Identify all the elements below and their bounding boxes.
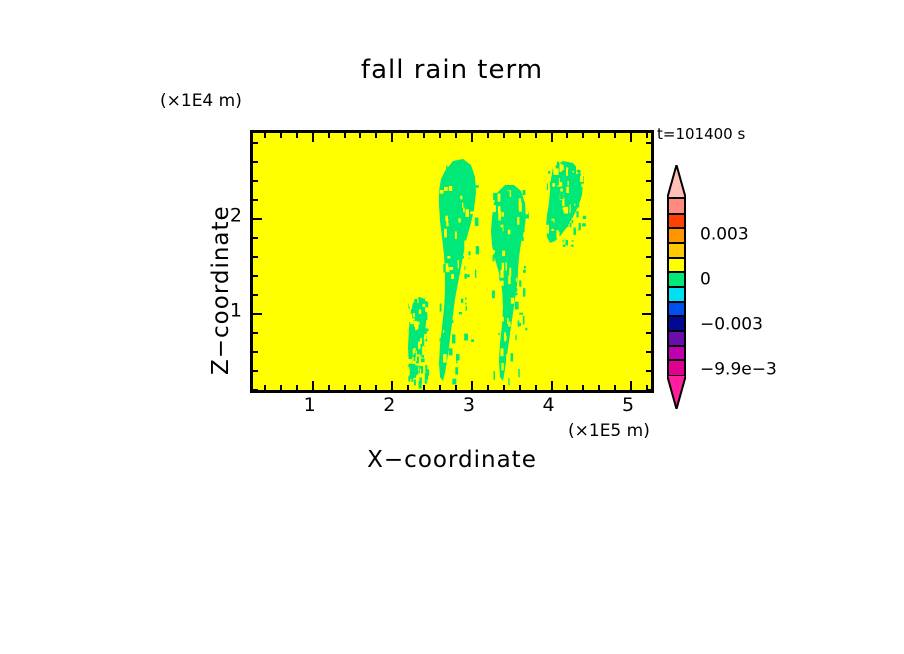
contour-speckle	[493, 323, 495, 329]
contour-speckle	[579, 234, 581, 242]
contour-speckle	[491, 250, 495, 253]
contour-speckle	[506, 354, 510, 362]
contour-speckle	[525, 328, 527, 331]
contour-speckle	[501, 281, 504, 286]
contour-speckle	[467, 274, 470, 277]
colorbar-segment-divider	[669, 227, 684, 229]
axis-tick	[646, 351, 651, 353]
contour-speckle	[509, 268, 511, 277]
contour-speckle	[561, 165, 564, 170]
contour-speckle	[474, 323, 477, 331]
contour-speckle	[501, 349, 504, 357]
contour-speckle	[525, 244, 528, 250]
contour-speckle	[447, 285, 450, 287]
contour-speckle	[440, 304, 442, 312]
y-tick-label: 2	[210, 206, 242, 225]
colorbar-overflow-arrow-bottom-icon	[667, 375, 686, 409]
axis-tick	[423, 385, 425, 390]
contour-speckle	[511, 298, 515, 304]
contour-speckle	[547, 183, 548, 190]
colorbar-segment	[669, 287, 684, 302]
contour-speckle	[409, 300, 412, 307]
axis-tick	[614, 133, 616, 138]
contour-speckle	[493, 255, 495, 262]
axis-tick	[253, 351, 258, 353]
contour-speckle	[514, 331, 516, 335]
contour-speckle	[566, 167, 568, 175]
contour-speckle	[570, 191, 571, 196]
contour-speckle	[463, 208, 465, 213]
contour-speckle	[519, 203, 522, 212]
contour-speckle	[522, 237, 524, 241]
contour-speckle	[516, 335, 518, 339]
axis-tick	[582, 133, 584, 138]
axis-tick	[312, 133, 314, 142]
contour-speckle	[557, 162, 559, 168]
contour-speckle	[576, 205, 579, 208]
contour-speckle	[574, 204, 575, 206]
axis-tick	[566, 133, 568, 138]
contour-speckle	[496, 281, 499, 286]
contour-speckle	[447, 243, 451, 245]
contour-speckle	[474, 169, 476, 173]
contour-speckle	[458, 334, 461, 343]
contour-speckle	[572, 184, 574, 189]
colorbar-segment	[669, 331, 684, 346]
contour-speckle	[492, 291, 495, 299]
contour-speckle	[572, 172, 574, 176]
axis-tick	[551, 381, 553, 390]
contour-speckle	[548, 171, 550, 174]
contour-speckle	[414, 369, 418, 375]
contour-speckle	[414, 332, 417, 337]
contour-speckle	[475, 218, 479, 227]
contour-speckle	[496, 286, 499, 291]
contour-speckle	[566, 240, 568, 246]
axis-tick	[646, 294, 651, 296]
colorbar-segment	[669, 243, 684, 258]
axis-tick	[582, 385, 584, 390]
contour-speckle	[553, 162, 556, 170]
axis-tick	[487, 385, 489, 390]
axis-tick	[253, 142, 258, 144]
contour-speckle	[470, 293, 474, 295]
colorbar-gradient	[667, 197, 686, 377]
contour-speckle	[493, 330, 496, 337]
axis-tick	[646, 237, 651, 239]
contour-speckle	[492, 205, 496, 212]
colorbar-segment-divider	[669, 315, 684, 317]
contour-speckle	[551, 229, 554, 231]
contour-speckle	[446, 203, 448, 209]
contour-speckle	[551, 221, 554, 225]
contour-speckle	[567, 162, 570, 167]
colorbar-segment-divider	[669, 242, 684, 244]
colorbar-segment	[669, 228, 684, 243]
contour-speckle	[426, 339, 428, 342]
contour-speckle	[468, 202, 472, 207]
axis-tick	[487, 133, 489, 138]
contour-speckle	[440, 190, 444, 194]
contour-speckle	[566, 187, 569, 193]
contour-speckle	[567, 229, 569, 238]
contour-speckle	[517, 217, 519, 225]
axis-tick	[253, 161, 258, 163]
axis-tick	[253, 389, 258, 391]
colorbar-segment	[669, 199, 684, 214]
contour-speckle	[408, 354, 411, 357]
axis-tick	[519, 385, 521, 390]
contour-speckle	[423, 374, 424, 379]
contour-speckle	[447, 256, 450, 259]
contour-speckle	[580, 209, 582, 211]
contour-speckle	[410, 343, 414, 348]
contour-speckle	[550, 232, 553, 235]
contour-speckle	[462, 203, 463, 208]
contour-speckle	[466, 209, 470, 217]
contour-speckle	[562, 210, 564, 213]
contour-speckle	[513, 323, 514, 327]
axis-tick	[253, 218, 262, 220]
contour-speckle	[518, 320, 520, 327]
page-title: fall rain term	[0, 57, 904, 83]
contour-speckle	[577, 170, 581, 172]
axis-tick	[646, 332, 651, 334]
contour-speckle	[562, 215, 563, 219]
contour-speckle	[519, 264, 521, 271]
contour-speckle	[502, 212, 504, 216]
axis-tick	[455, 133, 457, 138]
contour-speckle	[475, 270, 476, 278]
contour-speckle	[546, 225, 549, 234]
axis-tick	[253, 294, 258, 296]
colorbar-tick-label: 0.003	[700, 226, 749, 243]
axis-tick	[535, 385, 537, 390]
colorbar-segment-divider	[669, 301, 684, 303]
axis-tick	[642, 313, 651, 315]
contour-speckle	[570, 198, 573, 201]
contour-speckle	[568, 169, 572, 178]
contour-speckle	[453, 176, 455, 179]
axis-tick	[471, 381, 473, 390]
contour-speckle	[444, 377, 447, 382]
axis-tick	[264, 133, 266, 138]
contour-speckle	[568, 181, 569, 185]
contour-speckle	[458, 260, 459, 268]
contour-speckle	[412, 319, 413, 324]
contour-speckle	[452, 334, 455, 343]
contour-speckle	[519, 313, 523, 315]
axis-tick	[253, 275, 258, 277]
contour-speckle	[469, 308, 470, 315]
contour-speckle	[464, 241, 468, 249]
contour-speckle	[461, 256, 464, 259]
contour-speckle	[524, 280, 526, 283]
contour-speckle	[573, 209, 576, 212]
contour-speckle	[519, 323, 521, 326]
contour-speckle	[576, 211, 578, 218]
contour-speckle	[570, 223, 572, 227]
axis-tick	[407, 385, 409, 390]
colorbar-segment	[669, 360, 684, 375]
contour-speckle	[453, 316, 454, 320]
contour-speckle	[408, 359, 412, 363]
contour-speckle	[425, 298, 429, 301]
contour-speckle	[557, 187, 559, 191]
contour-speckle	[449, 267, 453, 270]
axis-tick	[296, 133, 298, 138]
contour-speckle	[522, 225, 525, 232]
contour-speckle	[471, 171, 472, 175]
axis-tick	[646, 275, 651, 277]
contour-speckle	[414, 353, 416, 361]
contour-speckle	[422, 347, 426, 355]
contour-speckle	[511, 353, 513, 361]
contour-speckle	[508, 243, 510, 245]
axis-tick	[296, 385, 298, 390]
axis-tick	[312, 381, 314, 390]
axis-tick	[359, 133, 361, 138]
colorbar	[663, 165, 693, 410]
contour-speckle	[427, 307, 430, 313]
axis-tick	[455, 385, 457, 390]
contour-speckle	[466, 306, 467, 311]
contour-speckle	[457, 219, 458, 228]
contour-speckle	[504, 202, 508, 205]
contour-speckle	[506, 262, 507, 270]
contour-speckle	[493, 193, 497, 200]
axis-tick	[280, 385, 282, 390]
contour-speckle	[576, 222, 579, 230]
contour-speckle	[459, 312, 462, 314]
contour-speckle	[456, 379, 460, 384]
contour-speckle	[559, 223, 562, 232]
contour-speckle	[505, 336, 507, 341]
contour-speckle	[460, 345, 461, 350]
contour-speckle	[472, 304, 476, 311]
contour-speckle	[523, 270, 526, 273]
contour-speckle	[443, 330, 444, 333]
axis-tick	[328, 133, 330, 138]
contour-speckle	[419, 366, 420, 369]
colorbar-segment-divider	[669, 330, 684, 332]
contour-speckle	[455, 367, 458, 374]
contour-speckle	[451, 306, 453, 315]
contour-speckle	[500, 270, 503, 278]
contour-speckle	[409, 314, 412, 322]
contour-speckle	[469, 317, 471, 325]
axis-tick	[646, 142, 651, 144]
colorbar-segment	[669, 346, 684, 361]
contour-speckle	[425, 380, 428, 383]
axis-tick	[253, 237, 258, 239]
contour-speckle	[440, 289, 443, 296]
contour-speckle	[463, 353, 465, 359]
contour-speckle	[443, 264, 445, 272]
contour-speckle	[469, 353, 472, 355]
axis-tick	[646, 256, 651, 258]
colorbar-segment-divider	[669, 359, 684, 361]
axis-tick	[630, 133, 632, 142]
axis-tick	[566, 385, 568, 390]
axis-tick	[519, 133, 521, 138]
contour-speckle	[462, 377, 465, 386]
contour-speckle	[426, 352, 429, 355]
contour-speckle	[555, 177, 559, 186]
contour-speckle	[560, 191, 563, 199]
contour-speckle	[458, 218, 460, 222]
contour-speckle	[411, 328, 413, 332]
contour-speckle	[501, 363, 503, 370]
contour-speckle	[449, 263, 453, 265]
axis-tick	[328, 385, 330, 390]
y-axis-unit-label: (×1E4 m)	[160, 93, 242, 110]
contour-speckle	[410, 379, 411, 388]
contour-speckle	[416, 351, 417, 358]
axis-tick	[391, 133, 393, 142]
x-tick-label: 2	[383, 396, 395, 415]
contour-speckle	[549, 202, 552, 210]
contour-speckle	[414, 321, 417, 327]
axis-tick	[407, 133, 409, 138]
axis-tick	[253, 180, 258, 182]
contour-speckle	[576, 166, 578, 174]
contour-speckle	[465, 300, 468, 303]
axis-tick	[423, 133, 425, 138]
contour-speckle	[498, 194, 501, 202]
contour-speckle	[414, 299, 417, 306]
contour-speckle	[510, 332, 513, 339]
contour-speckle	[444, 187, 448, 191]
contour-speckle	[511, 250, 514, 256]
y-axis-title: Z−coordinate	[210, 205, 233, 375]
contour-speckle	[414, 380, 416, 386]
axis-tick	[280, 133, 282, 138]
contour-speckle	[572, 220, 574, 223]
axis-tick	[646, 161, 651, 163]
contour-speckle	[419, 310, 421, 314]
axis-tick	[503, 385, 505, 390]
colorbar-segment-divider	[669, 271, 684, 273]
contour-speckle	[451, 274, 454, 279]
contour-speckle	[408, 364, 411, 366]
contour-speckle	[560, 182, 563, 186]
colorbar-arrow-shape	[667, 375, 686, 409]
contour-speckle	[515, 302, 519, 311]
colorbar-segment-divider	[669, 213, 684, 215]
contour-speckle	[509, 202, 510, 205]
contour-speckle	[580, 195, 581, 197]
contour-speckle	[523, 288, 525, 297]
contour-speckle	[461, 299, 463, 303]
contour-speckle	[508, 378, 509, 385]
contour-speckle	[473, 258, 475, 267]
contour-speckle	[425, 312, 428, 320]
contour-speckle	[464, 274, 466, 279]
contour-speckle	[578, 220, 582, 222]
contour-speckle	[446, 331, 449, 338]
contour-speckle	[494, 371, 496, 379]
contour-speckle	[582, 223, 586, 226]
colorbar-segment-divider	[669, 345, 684, 347]
contour-speckle	[506, 191, 510, 199]
contour-speckle	[525, 228, 527, 235]
axis-tick	[535, 133, 537, 138]
contour-speckle	[470, 212, 473, 215]
contour-speckle	[455, 303, 457, 306]
colorbar-arrow-shape	[667, 165, 686, 199]
contour-speckle	[424, 328, 427, 334]
contour-speckle	[498, 333, 499, 335]
colorbar-segment	[669, 214, 684, 229]
contour-speckle	[423, 341, 425, 346]
contour-speckle	[417, 329, 420, 333]
contour-speckle	[501, 317, 504, 322]
colorbar-tick-label: 0	[700, 271, 711, 288]
contour-speckle	[507, 318, 509, 324]
axis-tick	[614, 385, 616, 390]
colorbar-segment	[669, 258, 684, 273]
colorbar-segment-divider	[669, 286, 684, 288]
contour-speckle	[576, 175, 580, 177]
colorbar-overflow-arrow-top-icon	[667, 165, 686, 199]
axis-tick	[439, 385, 441, 390]
contour-speckle	[498, 211, 501, 217]
contour-speckle	[458, 189, 459, 191]
contour-speckle	[446, 166, 448, 173]
contour-speckle	[517, 202, 518, 204]
axis-tick	[642, 218, 651, 220]
contour-speckle	[476, 177, 478, 184]
contour-speckle	[570, 238, 572, 245]
axis-tick	[253, 332, 258, 334]
contour-speckle	[425, 302, 428, 308]
colorbar-segment-divider	[669, 257, 684, 259]
contour-speckle	[583, 216, 586, 219]
axis-tick	[253, 199, 258, 201]
axis-tick	[375, 133, 377, 138]
contour-speckle	[464, 334, 468, 341]
contour-speckle	[502, 251, 505, 256]
contour-speckle	[440, 338, 444, 341]
contour-speckle	[515, 293, 517, 296]
contour-speckle	[463, 168, 467, 171]
contour-speckle	[518, 369, 519, 377]
contour-speckle	[574, 228, 577, 236]
plot-area	[250, 130, 654, 393]
contour-speckle	[452, 379, 456, 385]
axis-tick	[598, 385, 600, 390]
axis-tick	[253, 256, 258, 258]
x-tick-label: 3	[463, 396, 475, 415]
axis-tick	[253, 313, 262, 315]
contour-speckle	[425, 365, 427, 373]
contour-speckle	[524, 266, 526, 269]
axis-tick	[359, 385, 361, 390]
contour-speckle	[499, 292, 502, 300]
contour-speckle	[581, 200, 584, 207]
contour-speckle	[526, 209, 529, 214]
contour-speckle	[417, 299, 418, 304]
x-tick-label: 5	[622, 396, 634, 415]
colorbar-tick-label: −9.9e−3	[700, 361, 777, 378]
contour-speckle	[420, 358, 421, 361]
contour-speckle	[449, 186, 452, 191]
y-tick-label: 1	[210, 301, 242, 320]
contour-speckle	[519, 280, 521, 286]
time-annotation: t=101400 s	[657, 127, 745, 142]
contour-speckle	[514, 309, 518, 315]
